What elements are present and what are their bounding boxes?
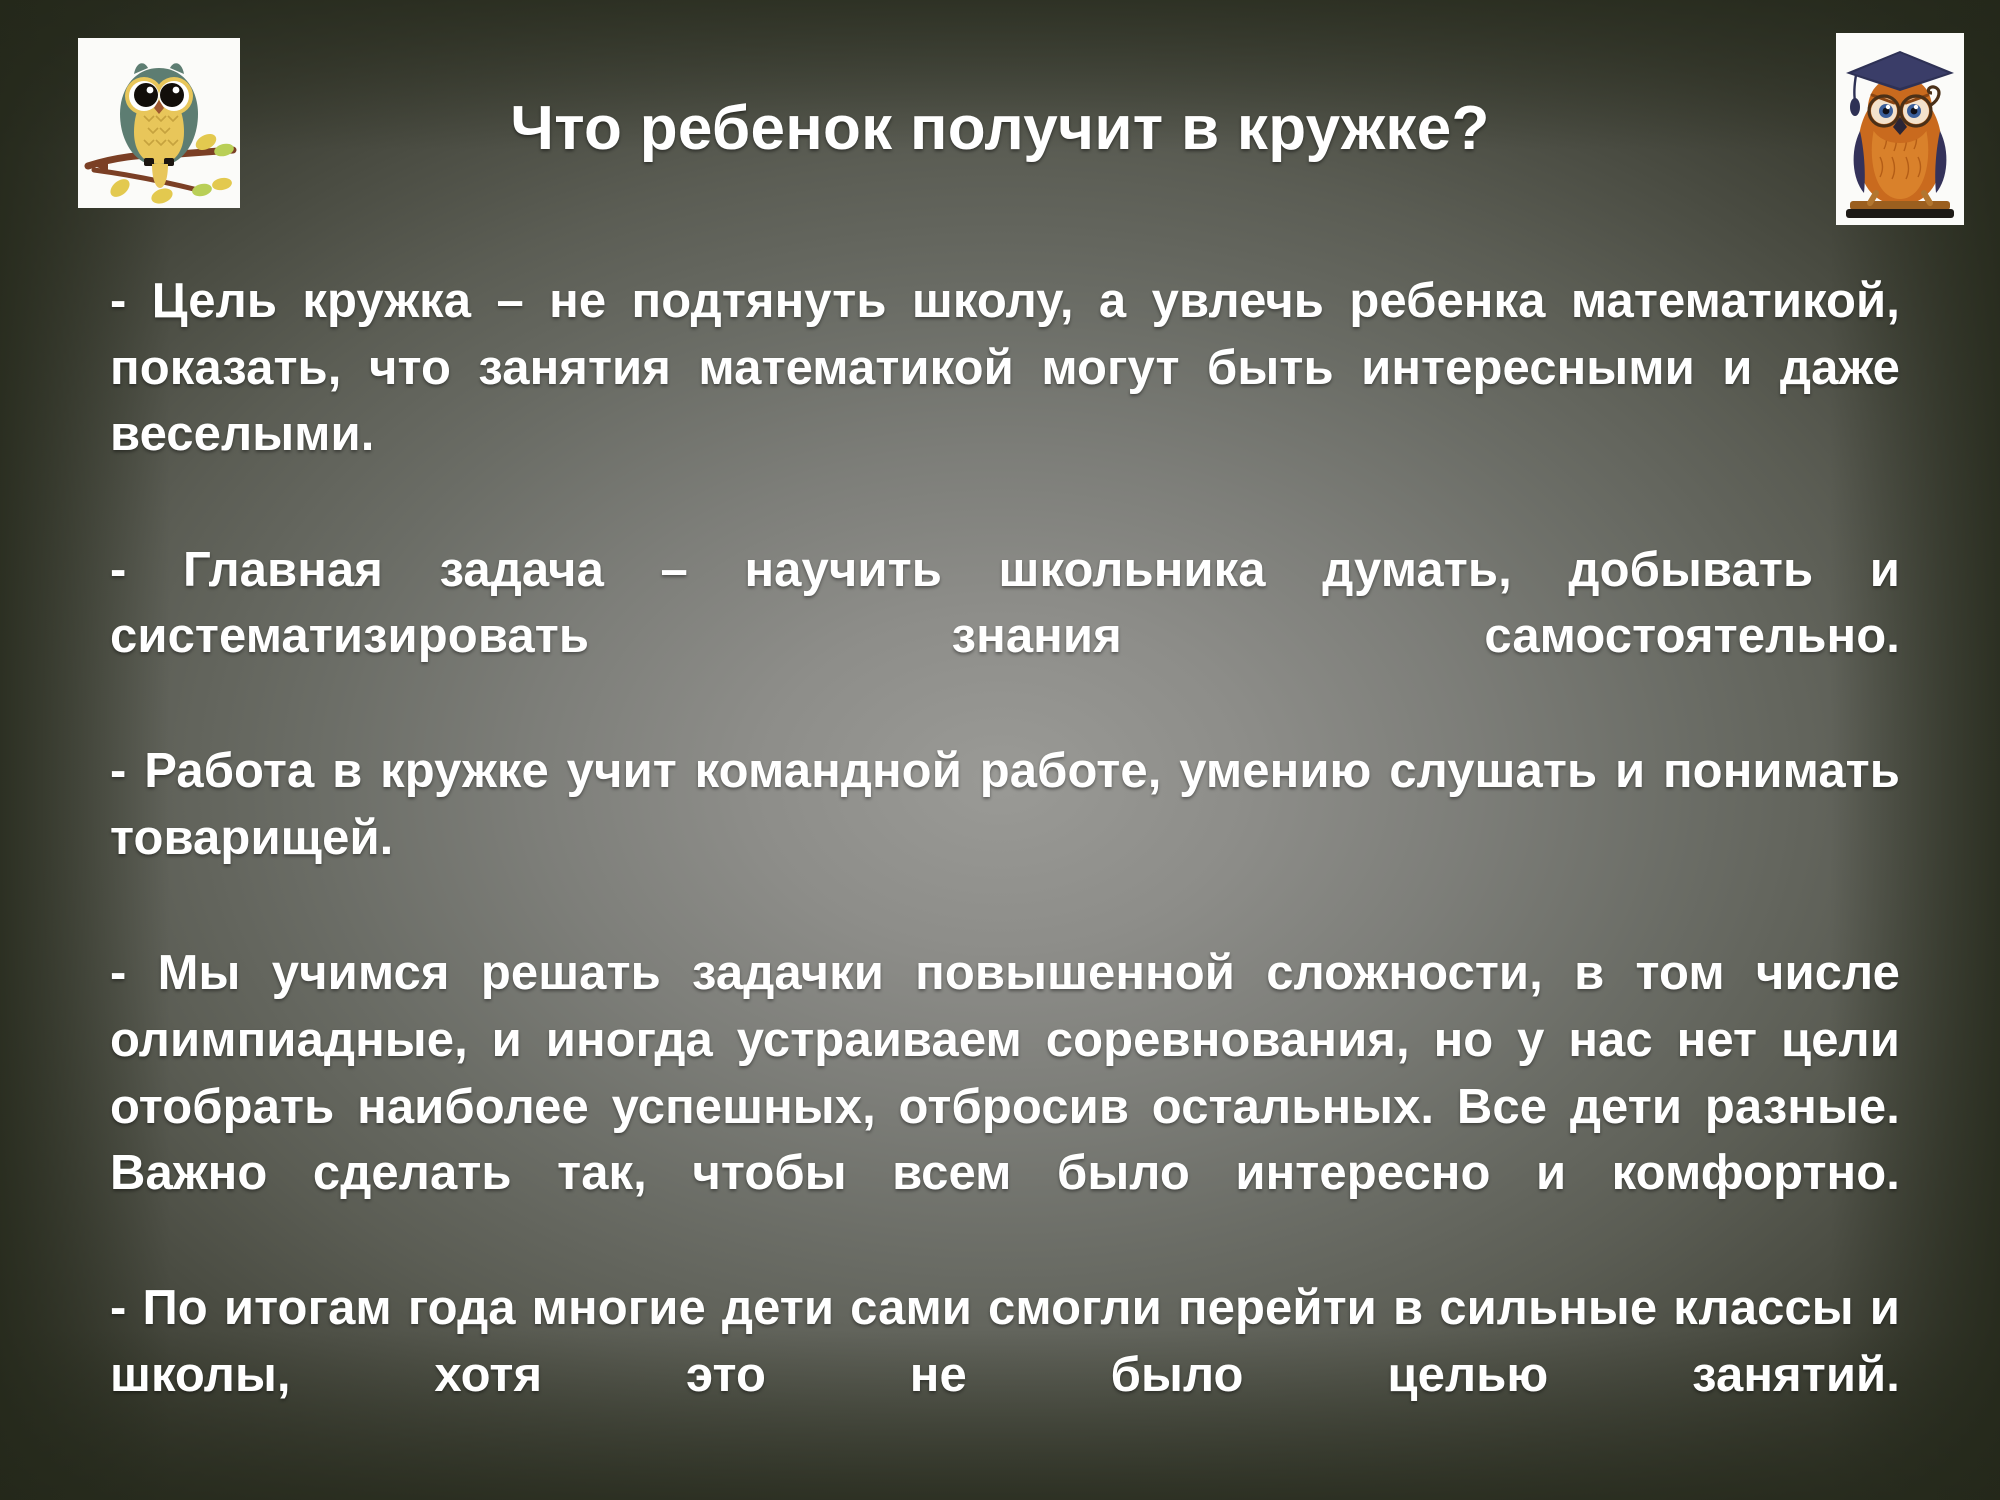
page-title: Что ребенок получит в кружке? [260,96,1740,161]
bullet-paragraph-5: - По итогам года многие дети сами смогли… [110,1275,1900,1475]
graduate-owl-illustration [1836,33,1964,225]
owl-on-branch-illustration [78,38,240,208]
slide-body: - Цель кружка – не подтянуть школу, а ув… [110,268,1900,1475]
owl-on-branch-image [78,38,240,208]
bullet-paragraph-1: - Цель кружка – не подтянуть школу, а ув… [110,268,1900,535]
bullet-paragraph-3: - Работа в кружке учит командной работе,… [110,738,1900,938]
slide-title-container: Что ребенок получит в кружке? [260,96,1740,161]
bullet-paragraph-4: - Мы учимся решать задачки повышенной сл… [110,940,1900,1273]
bullet-paragraph-2: - Главная задача – научить школьника дум… [110,537,1900,737]
graduate-owl-image [1836,33,1964,225]
presentation-slide: Что ребенок получит в кружке? - Цель кру… [0,0,2000,1500]
